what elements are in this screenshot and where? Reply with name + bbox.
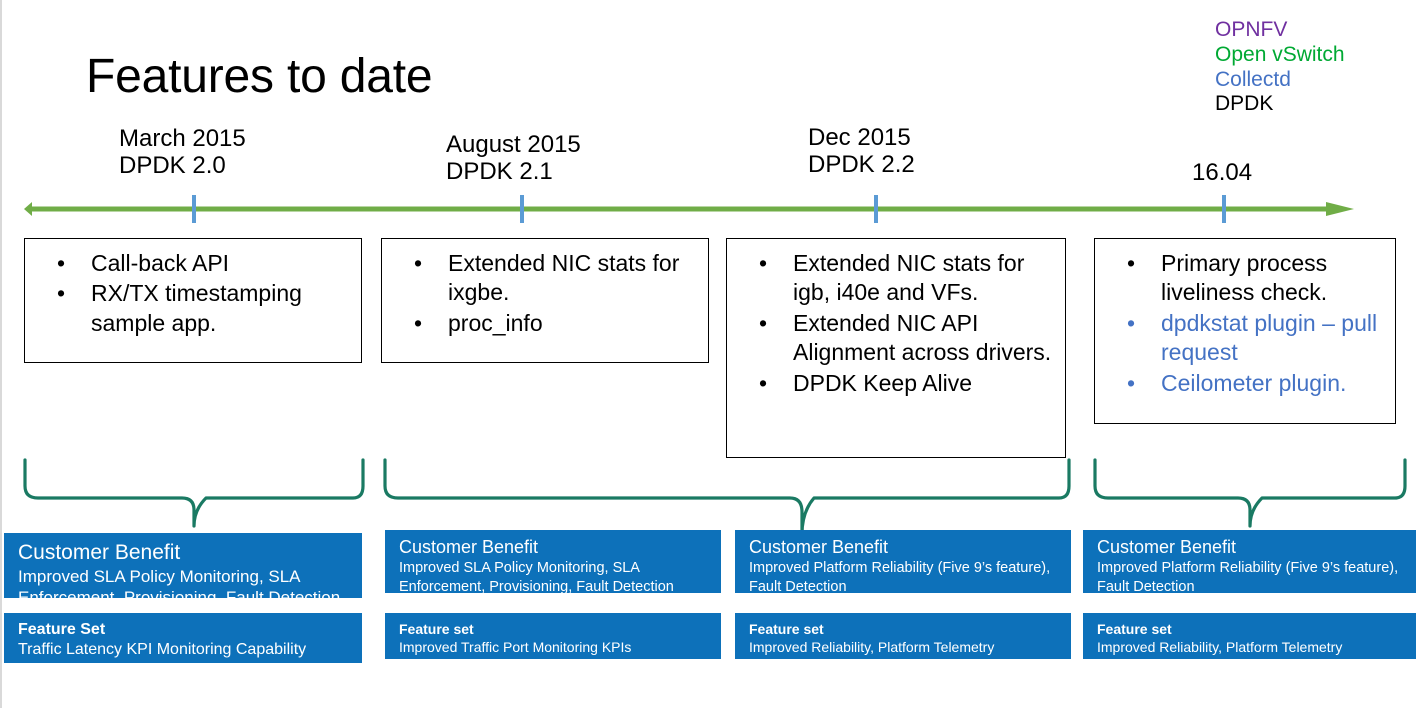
page-title: Features to date bbox=[86, 49, 432, 104]
customer-benefit-box-3[interactable]: Customer Benefit Improved Platform Relia… bbox=[735, 530, 1071, 593]
milestone-3-date: Dec 2015 bbox=[808, 124, 915, 151]
feature-set-body: Improved Reliability, Platform Telemetry bbox=[1097, 638, 1404, 656]
milestone-2-version: DPDK 2.1 bbox=[446, 158, 581, 185]
milestone-label-2: August 2015 DPDK 2.1 bbox=[446, 131, 581, 186]
timeline-tick-3 bbox=[874, 195, 878, 223]
bullet-icon: • bbox=[57, 249, 65, 278]
milestone-label-1: March 2015 DPDK 2.0 bbox=[119, 125, 246, 180]
milestone-1-version: DPDK 2.0 bbox=[119, 152, 246, 179]
feature-set-body: Improved Reliability, Platform Telemetry bbox=[749, 638, 1059, 656]
legend: OPNFV Open vSwitch Collectd DPDK bbox=[1215, 18, 1345, 117]
feature-item: • Extended NIC API Alignment across driv… bbox=[737, 309, 1057, 368]
milestone-2-date: August 2015 bbox=[446, 131, 581, 158]
feature-set-box-3[interactable]: Feature set Improved Reliability, Platfo… bbox=[735, 613, 1071, 659]
bullet-icon: • bbox=[57, 279, 65, 308]
feature-item: • Call-back API bbox=[35, 249, 353, 278]
legend-item-collectd: Collectd bbox=[1215, 68, 1345, 93]
feature-item-text: Extended NIC API Alignment across driver… bbox=[793, 310, 1051, 365]
feature-item-text: Primary process liveliness check. bbox=[1161, 250, 1327, 305]
customer-benefit-title: Customer Benefit bbox=[18, 540, 350, 566]
customer-benefit-box-2[interactable]: Customer Benefit Improved SLA Policy Mon… bbox=[385, 530, 721, 593]
bullet-icon: • bbox=[1127, 369, 1135, 398]
feature-list-4: • Primary process liveliness check. • dp… bbox=[1105, 249, 1387, 398]
customer-benefit-body: Improved Platform Reliability (Five 9’s … bbox=[1097, 559, 1404, 593]
feature-set-box-2[interactable]: Feature set Improved Traffic Port Monito… bbox=[385, 613, 721, 659]
milestone-1-date: March 2015 bbox=[119, 125, 246, 152]
feature-set-title: Feature Set bbox=[18, 620, 350, 640]
customer-benefit-title: Customer Benefit bbox=[749, 537, 1059, 559]
feature-item-text: dpdkstat plugin – pull request bbox=[1161, 310, 1377, 365]
bullet-icon: • bbox=[759, 309, 767, 338]
customer-benefit-body: Improved SLA Policy Monitoring, SLA Enfo… bbox=[18, 566, 350, 598]
milestone-label-3: Dec 2015 DPDK 2.2 bbox=[808, 124, 915, 179]
legend-item-dpdk: DPDK bbox=[1215, 92, 1345, 117]
customer-benefit-title: Customer Benefit bbox=[1097, 537, 1404, 559]
timeline-tick-4 bbox=[1222, 195, 1226, 223]
feature-box-2[interactable]: • Extended NIC stats for ixgbe. • proc_i… bbox=[381, 238, 709, 363]
feature-set-title: Feature set bbox=[749, 620, 1059, 638]
bullet-icon: • bbox=[414, 249, 422, 278]
feature-item-text: Extended NIC stats for ixgbe. bbox=[448, 250, 679, 305]
feature-item-text: Extended NIC stats for igb, i40e and VFs… bbox=[793, 250, 1024, 305]
brace-connector-2 bbox=[382, 458, 1072, 536]
feature-item: • DPDK Keep Alive bbox=[737, 369, 1057, 398]
feature-set-box-4[interactable]: Feature set Improved Reliability, Platfo… bbox=[1083, 613, 1416, 659]
feature-item-text: proc_info bbox=[448, 310, 543, 336]
feature-item: • proc_info bbox=[392, 309, 700, 338]
feature-item-text: Call-back API bbox=[91, 250, 229, 276]
bullet-icon: • bbox=[1127, 309, 1135, 338]
timeline-axis bbox=[24, 202, 1354, 216]
feature-set-box-1[interactable]: Feature Set Traffic Latency KPI Monitori… bbox=[4, 613, 362, 663]
legend-item-open-vswitch: Open vSwitch bbox=[1215, 43, 1345, 68]
feature-box-3[interactable]: • Extended NIC stats for igb, i40e and V… bbox=[726, 238, 1066, 458]
bullet-icon: • bbox=[759, 249, 767, 278]
feature-item: • RX/TX timestamping sample app. bbox=[35, 279, 353, 338]
customer-benefit-box-4[interactable]: Customer Benefit Improved Platform Relia… bbox=[1083, 530, 1416, 593]
feature-item: • Extended NIC stats for ixgbe. bbox=[392, 249, 700, 308]
feature-item: • Extended NIC stats for igb, i40e and V… bbox=[737, 249, 1057, 308]
bullet-icon: • bbox=[414, 309, 422, 338]
feature-set-title: Feature set bbox=[399, 620, 709, 638]
feature-item-text: DPDK Keep Alive bbox=[793, 370, 972, 396]
customer-benefit-body: Improved SLA Policy Monitoring, SLA Enfo… bbox=[399, 559, 709, 593]
feature-box-4[interactable]: • Primary process liveliness check. • dp… bbox=[1094, 238, 1396, 424]
customer-benefit-title: Customer Benefit bbox=[399, 537, 709, 559]
customer-benefit-box-1[interactable]: Customer Benefit Improved SLA Policy Mon… bbox=[4, 533, 362, 598]
feature-set-title: Feature set bbox=[1097, 620, 1404, 638]
feature-list-1: • Call-back API • RX/TX timestamping sam… bbox=[35, 249, 353, 338]
milestone-4-date: 16.04 bbox=[1192, 159, 1252, 186]
feature-set-body: Traffic Latency KPI Monitoring Capabilit… bbox=[18, 640, 350, 661]
feature-item-text: RX/TX timestamping sample app. bbox=[91, 280, 302, 335]
milestone-label-4: 16.04 bbox=[1192, 159, 1252, 186]
feature-list-3: • Extended NIC stats for igb, i40e and V… bbox=[737, 249, 1057, 398]
timeline-tick-2 bbox=[520, 195, 524, 223]
bullet-icon: • bbox=[1127, 249, 1135, 278]
brace-connector-1 bbox=[22, 458, 366, 528]
bullet-icon: • bbox=[759, 369, 767, 398]
milestone-3-version: DPDK 2.2 bbox=[808, 151, 915, 178]
brace-connector-3 bbox=[1092, 458, 1408, 528]
feature-item: • Primary process liveliness check. bbox=[1105, 249, 1387, 308]
feature-box-1[interactable]: • Call-back API • RX/TX timestamping sam… bbox=[24, 238, 362, 363]
slide-canvas: OPNFV Open vSwitch Collectd DPDK Feature… bbox=[0, 0, 1416, 708]
feature-set-body: Improved Traffic Port Monitoring KPIs bbox=[399, 638, 709, 656]
customer-benefit-body: Improved Platform Reliability (Five 9’s … bbox=[749, 559, 1059, 593]
feature-item: • Ceilometer plugin. bbox=[1105, 369, 1387, 398]
feature-item-text: Ceilometer plugin. bbox=[1161, 370, 1346, 396]
timeline-tick-1 bbox=[192, 195, 196, 223]
feature-list-2: • Extended NIC stats for ixgbe. • proc_i… bbox=[392, 249, 700, 338]
feature-item: • dpdkstat plugin – pull request bbox=[1105, 309, 1387, 368]
legend-item-opnfv: OPNFV bbox=[1215, 18, 1345, 43]
